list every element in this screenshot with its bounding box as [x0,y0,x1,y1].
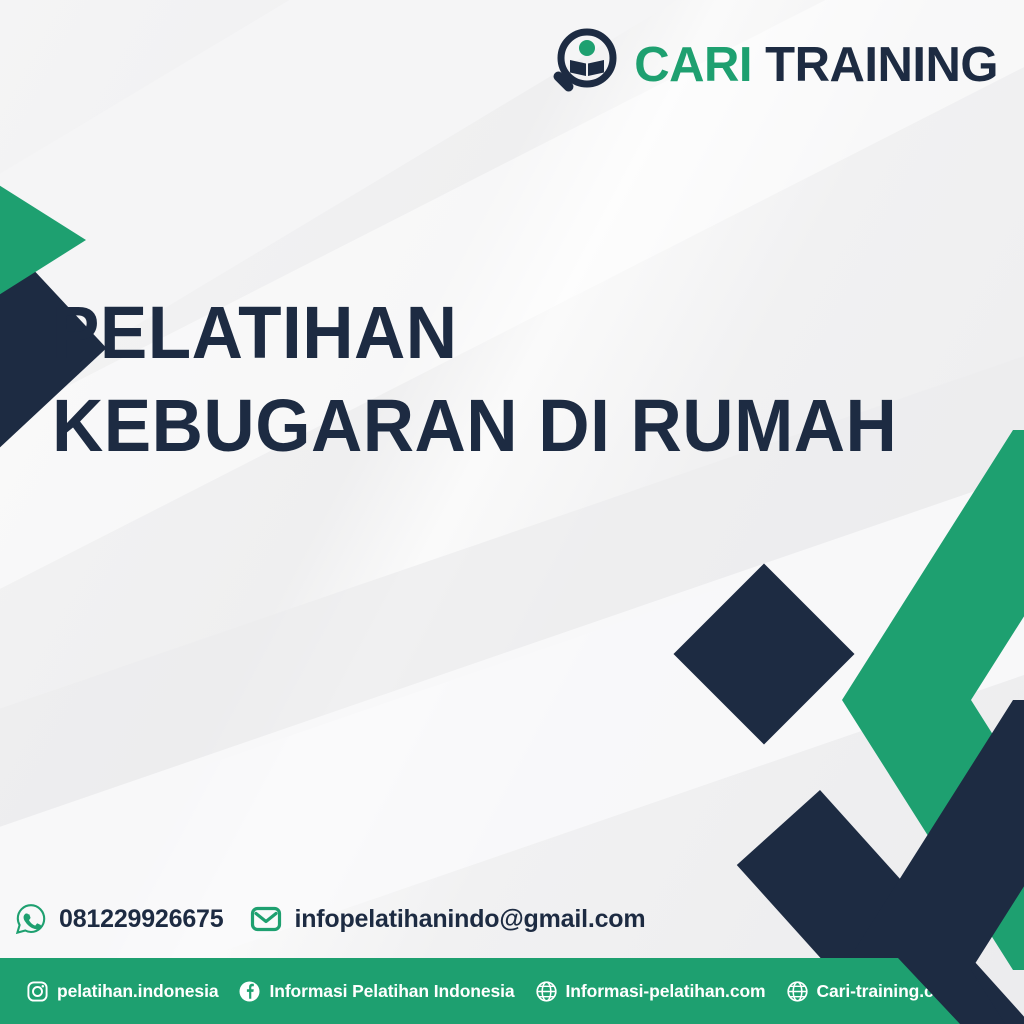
logo-wordmark: CARI TRAINING [634,41,998,90]
footer-bar: pelatihan.indonesia Informasi Pelatihan … [0,958,1024,1024]
footer-website-informasi[interactable]: Informasi-pelatihan.com [535,980,766,1003]
email-icon [249,902,283,936]
footer-instagram-label: pelatihan.indonesia [57,981,218,1002]
logo-word-training: TRAINING [765,38,998,92]
title-line-one: PELATIHAN [52,286,897,379]
title-line-two: KEBUGARAN DI RUMAH [52,379,897,472]
footer-facebook[interactable]: Informasi Pelatihan Indonesia [238,980,514,1003]
globe-icon [786,980,809,1003]
contact-email[interactable]: infopelatihanindo@gmail.com [249,902,645,936]
instagram-icon [26,980,49,1003]
promo-poster: CARI TRAINING PELATIHAN KEBUGARAN DI RUM… [0,0,1024,1024]
contact-row: 081229926675 infopelatihanindo@gmail.com [14,902,659,936]
contact-whatsapp[interactable]: 081229926675 [14,902,223,936]
globe-icon [535,980,558,1003]
facebook-icon [238,980,261,1003]
footer-facebook-label: Informasi Pelatihan Indonesia [269,981,514,1002]
brand-logo: CARI TRAINING [546,28,998,102]
logo-word-cari: CARI [634,38,752,92]
magnifier-book-icon [546,28,620,102]
footer-website-informasi-label: Informasi-pelatihan.com [566,981,766,1002]
footer-instagram[interactable]: pelatihan.indonesia [26,980,218,1003]
page-title: PELATIHAN KEBUGARAN DI RUMAH [52,286,932,472]
contact-email-label: infopelatihanindo@gmail.com [294,905,645,934]
contact-whatsapp-label: 081229926675 [59,905,223,934]
whatsapp-icon [14,902,48,936]
